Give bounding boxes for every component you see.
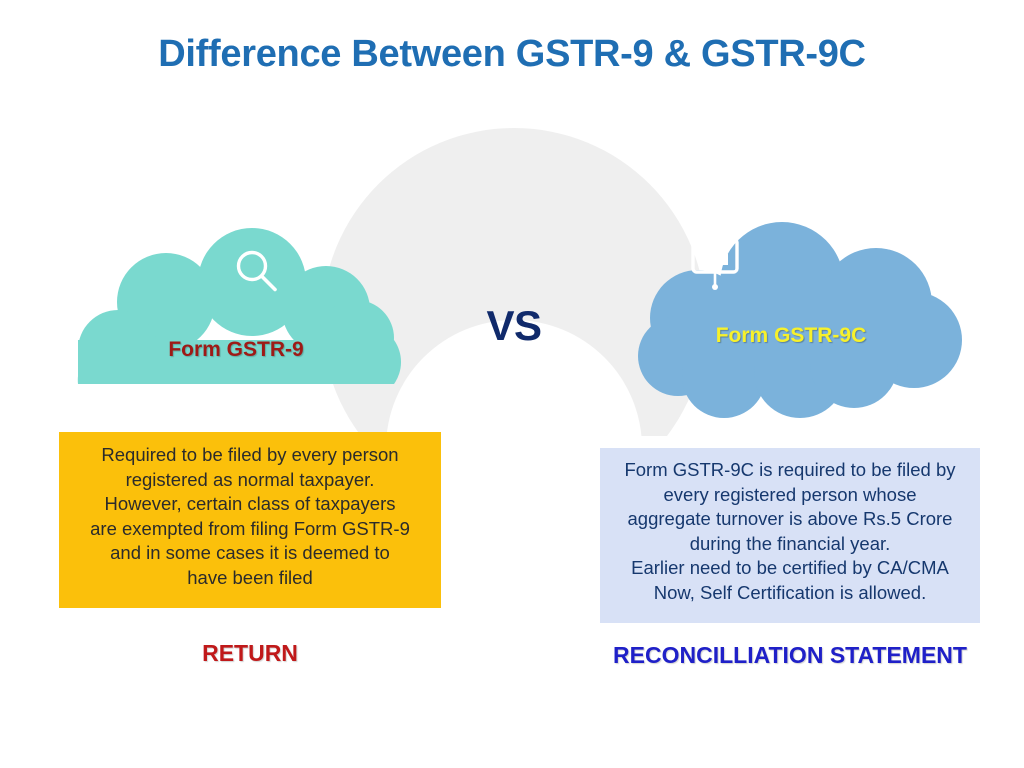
right-panel-line: Form GSTR-9C is required to be filed by <box>608 458 972 483</box>
right-panel-line: Now, Self Certification is allowed. <box>608 581 972 606</box>
cloud-shape-right <box>614 222 968 418</box>
right-panel-line: Earlier need to be certified by CA/CMA <box>608 556 972 581</box>
right-description-panel: Form GSTR-9C is required to be filed by … <box>600 448 980 623</box>
infographic-slide: Difference Between GSTR-9 & GSTR-9C <box>0 0 1024 768</box>
left-caption: RETURN <box>59 640 441 667</box>
left-cloud-label: Form GSTR-9 <box>56 338 416 362</box>
left-panel-line: have been filed <box>67 566 433 591</box>
presentation-chart-icon <box>688 235 744 298</box>
left-panel-line: and in some cases it is deemed to <box>67 541 433 566</box>
page-title: Difference Between GSTR-9 & GSTR-9C <box>0 33 1024 76</box>
left-panel-line: Required to be filed by every person <box>67 443 433 468</box>
left-panel-line: registered as normal taxpayer. <box>67 468 433 493</box>
right-panel-line: during the financial year. <box>608 532 972 557</box>
left-description-panel: Required to be filed by every person reg… <box>59 432 441 608</box>
right-panel-line: aggregate turnover is above Rs.5 Crore <box>608 507 972 532</box>
right-panel-line: every registered person whose <box>608 483 972 508</box>
left-panel-line: However, certain class of taxpayers <box>67 492 433 517</box>
left-panel-line: are exempted from filing Form GSTR-9 <box>67 517 433 542</box>
right-cloud-label: Form GSTR-9C <box>614 324 968 348</box>
search-icon <box>229 244 285 305</box>
right-caption: RECONCILLIATION STATEMENT <box>600 642 980 669</box>
right-cloud-group: Form GSTR-9C <box>614 222 968 418</box>
vs-label: VS <box>444 302 584 350</box>
left-cloud-group: Form GSTR-9 <box>56 228 416 384</box>
